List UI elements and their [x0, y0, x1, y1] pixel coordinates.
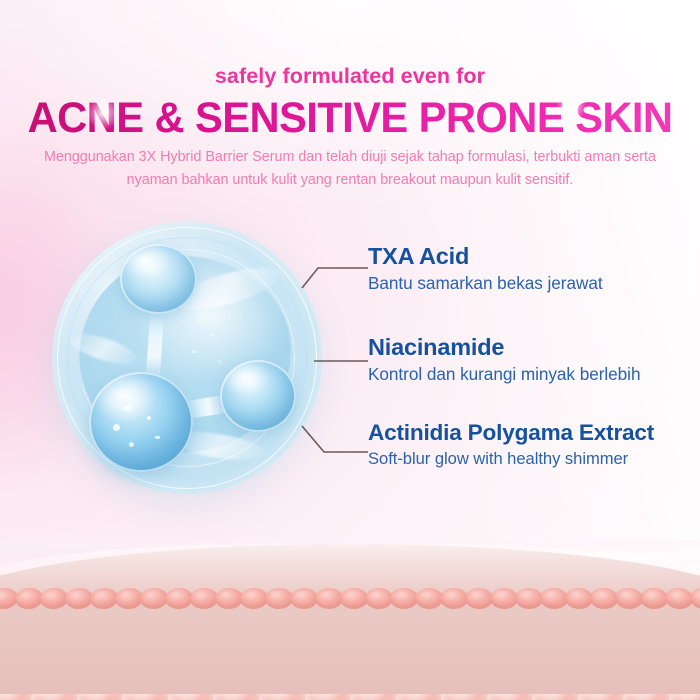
skin-flat-cell	[265, 588, 294, 610]
ingredient-name: Actinidia Polygama Extract	[368, 420, 654, 446]
gel-speck	[210, 334, 213, 337]
gel-speck	[192, 350, 197, 353]
bubble-speck	[129, 442, 134, 447]
skin-flat-cell	[340, 588, 368, 609]
droplet-sphere-top	[120, 244, 197, 314]
ingredient-item-actinidia-polygama-extract: Actinidia Polygama Extract Soft-blur glo…	[368, 420, 654, 469]
gel-speck	[198, 318, 202, 322]
connector-line-txa	[302, 268, 368, 288]
gel-speck	[218, 360, 221, 363]
headline-text: ACNE & SENSITIVE PRONE SKIN	[11, 94, 690, 143]
skin-flat-cell	[390, 588, 418, 609]
bubble-speck	[123, 406, 132, 411]
sphere-edge	[120, 244, 197, 314]
skin-flat-cell	[290, 588, 318, 610]
bubble-speck	[113, 424, 120, 431]
connector-line-actinidia	[302, 426, 368, 452]
skin-flat-cell	[415, 588, 443, 609]
subtitle-text: Menggunakan 3X Hybrid Barrier Serum dan …	[44, 146, 656, 192]
ingredient-item-niacinamide: Niacinamide Kontrol dan kurangi minyak b…	[368, 334, 640, 385]
ingredient-item-txa-acid: TXA Acid Bantu samarkan bekas jerawat	[368, 243, 603, 294]
skin-flat-cell	[365, 588, 393, 609]
ingredient-name: TXA Acid	[368, 243, 603, 270]
connector-lines	[300, 230, 370, 490]
bubble-speck	[147, 416, 151, 420]
skin-flat-cell	[440, 588, 468, 610]
skin-top-fade	[0, 540, 700, 554]
sphere-edge	[220, 360, 296, 432]
skin-cross-section-graphic	[0, 540, 700, 700]
droplet-sphere-bottom	[89, 372, 193, 472]
ingredient-description: Kontrol dan kurangi minyak berlebih	[368, 364, 640, 385]
ingredient-description: Soft-blur glow with healthy shimmer	[368, 449, 654, 469]
droplet-sphere-right	[220, 360, 296, 432]
ingredient-description: Bantu samarkan bekas jerawat	[368, 273, 603, 294]
bubble-speck	[155, 436, 160, 439]
sphere-edge	[89, 372, 193, 472]
ingredient-name: Niacinamide	[368, 334, 640, 361]
kicker-text: safely formulated even for	[0, 64, 700, 89]
skin-flat-cell	[315, 588, 343, 609]
skin-flat-cell-row	[0, 588, 700, 628]
droplet-molecule-graphic	[52, 222, 322, 494]
poster-stage: safely formulated even for ACNE & SENSIT…	[0, 0, 700, 700]
